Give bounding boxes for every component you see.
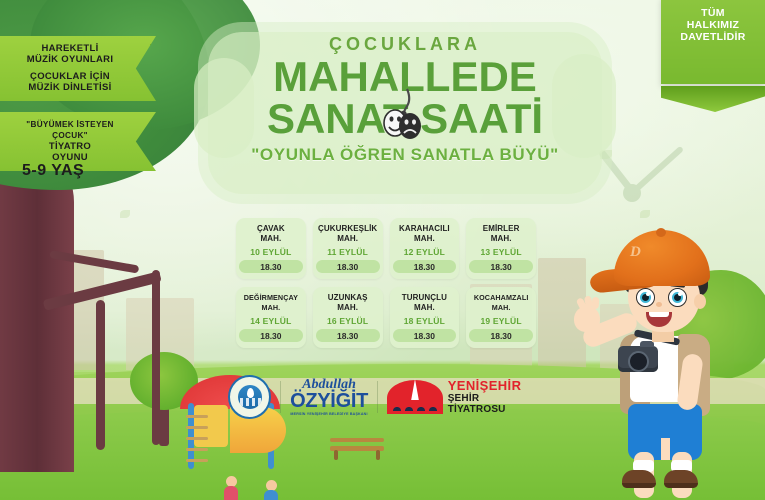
event-suffix: MAH. bbox=[337, 303, 358, 312]
ribbon2-line-1: "BÜYÜMEK İSTEYEN ÇOCUK" bbox=[14, 119, 126, 141]
event-time: 18.30 bbox=[316, 260, 380, 273]
event-time: 18.30 bbox=[393, 260, 457, 273]
logo-divider bbox=[377, 381, 378, 413]
invitation-line-3: DAVETLİDİR bbox=[661, 31, 765, 43]
event-neighborhood: TURUNÇLU bbox=[402, 293, 447, 302]
program-ribbon-music: HAREKETLİ MÜZİK OYUNLARI ÇOCUKLAR İÇİN M… bbox=[0, 36, 156, 101]
ribbon1-line-4: MÜZİK DİNLETİSİ bbox=[14, 82, 126, 93]
event-time: 18.30 bbox=[239, 260, 303, 273]
event-date: 11 EYLÜL bbox=[316, 247, 380, 257]
invitation-ribbon: TÜM HALKIMIZ DAVETLİDİR bbox=[661, 0, 765, 84]
boy-shoe bbox=[622, 470, 656, 488]
event-time: 18.30 bbox=[316, 329, 380, 342]
event-card[interactable]: EMİRLERMAH. 13 EYLÜL 18.30 bbox=[466, 218, 536, 279]
event-date: 13 EYLÜL bbox=[469, 247, 533, 257]
event-time: 18.30 bbox=[393, 329, 457, 342]
event-neighborhood: KARAHACILI bbox=[399, 224, 450, 233]
event-card[interactable]: TURUNÇLUMAH. 18 EYLÜL 18.30 bbox=[390, 287, 460, 348]
event-time: 18.30 bbox=[239, 329, 303, 342]
boy-nose bbox=[656, 302, 662, 307]
boy-character: D bbox=[572, 228, 758, 496]
headline-line-2: SANAT SAATİ bbox=[267, 95, 543, 142]
cap-button bbox=[656, 228, 666, 237]
ribbon1-line-2: MÜZİK OYUNLARI bbox=[14, 54, 126, 65]
theatre-name: YENİŞEHİR bbox=[448, 379, 538, 393]
event-date: 19 EYLÜL bbox=[469, 316, 533, 326]
event-card[interactable]: DEĞİRMENÇAYMAH. 14 EYLÜL 18.30 bbox=[236, 287, 306, 348]
boy-finger bbox=[592, 297, 600, 309]
cap-logo: D bbox=[630, 244, 650, 262]
event-time: 18.30 bbox=[469, 260, 533, 273]
event-suffix: MAH. bbox=[492, 303, 511, 312]
event-suffix: MAH. bbox=[491, 234, 512, 243]
event-schedule: ÇAVAKMAH. 10 EYLÜL 18.30 ÇUKURKEŞLİKMAH.… bbox=[236, 218, 536, 356]
event-neighborhood: DEĞİRMENÇAY bbox=[244, 293, 298, 302]
mayor-title: MERSİN YENİŞEHİR BELEDİYE BAŞKANI bbox=[290, 411, 368, 417]
event-card[interactable]: UZUNKAŞMAH. 16 EYLÜL 18.30 bbox=[313, 287, 383, 348]
event-date: 14 EYLÜL bbox=[239, 316, 303, 326]
event-neighborhood: ÇAVAK bbox=[257, 224, 285, 233]
headline-block: ÇOCUKLARA MAHALLEDE SANAT SAATİ "OYUNLA … bbox=[200, 34, 610, 165]
city-theatre-logo: YENİŞEHİR ŞEHİR TİYATROSU bbox=[387, 379, 538, 415]
event-time: 18.30 bbox=[469, 329, 533, 342]
mayor-last-name: ÖZYİĞİT bbox=[290, 391, 368, 411]
boy-waving-hand bbox=[574, 306, 600, 332]
event-suffix: MAH. bbox=[337, 234, 358, 243]
boy-eye bbox=[636, 288, 655, 307]
event-neighborhood: UZUNKAŞ bbox=[328, 293, 368, 302]
event-neighborhood: EMİRLER bbox=[483, 224, 520, 233]
event-neighborhood: ÇUKURKEŞLİK bbox=[318, 224, 377, 233]
logo-bar: Abdullah ÖZYİĞİT MERSİN YENİŞEHİR BELEDİ… bbox=[228, 374, 538, 420]
park-bench bbox=[330, 438, 384, 460]
foreground-tree-trunk bbox=[0, 142, 74, 472]
leaf-speck bbox=[640, 210, 650, 218]
ribbon1-line-3: ÇOCUKLAR İÇİN bbox=[14, 71, 126, 82]
logo-divider bbox=[280, 381, 281, 413]
event-card[interactable]: ÇUKURKEŞLİKMAH. 11 EYLÜL 18.30 bbox=[313, 218, 383, 279]
boy-ear bbox=[694, 294, 706, 309]
age-range-label: 5-9 YAŞ bbox=[22, 162, 84, 180]
theatre-tent-icon bbox=[387, 380, 442, 414]
headline-line-1: MAHALLEDE bbox=[200, 57, 610, 97]
mayor-logo: Abdullah ÖZYİĞİT MERSİN YENİŞEHİR BELEDİ… bbox=[290, 378, 368, 417]
cap-crown bbox=[614, 230, 710, 286]
event-suffix: MAH. bbox=[261, 303, 280, 312]
boy-eye bbox=[668, 288, 687, 307]
tree-trunk bbox=[96, 300, 105, 450]
event-date: 18 EYLÜL bbox=[393, 316, 457, 326]
event-suffix: MAH. bbox=[414, 303, 435, 312]
event-neighborhood: KOCAHAMZALI bbox=[474, 293, 529, 302]
poster-canvas: TÜM HALKIMIZ DAVETLİDİR HAREKETLİ MÜZİK … bbox=[0, 0, 765, 500]
event-date: 16 EYLÜL bbox=[316, 316, 380, 326]
tree-trunk bbox=[152, 270, 160, 445]
event-suffix: MAH. bbox=[414, 234, 435, 243]
event-card[interactable]: ÇAVAKMAH. 10 EYLÜL 18.30 bbox=[236, 218, 306, 279]
leaf-speck bbox=[120, 210, 130, 218]
municipality-seal-icon bbox=[228, 375, 271, 419]
headline-kicker: ÇOCUKLARA bbox=[200, 34, 610, 55]
event-card[interactable]: KARAHACILIMAH. 12 EYLÜL 18.30 bbox=[390, 218, 460, 279]
theatre-subtitle: ŞEHİR TİYATROSU bbox=[448, 393, 538, 415]
event-date: 10 EYLÜL bbox=[239, 247, 303, 257]
mayor-first-name: Abdullah bbox=[290, 378, 368, 391]
ribbon2-line-2: TİYATRO bbox=[14, 141, 126, 152]
invitation-line-1: TÜM bbox=[661, 7, 765, 19]
event-suffix: MAH. bbox=[260, 234, 281, 243]
ribbon1-line-1: HAREKETLİ bbox=[14, 43, 126, 54]
camera-icon bbox=[618, 346, 658, 372]
event-row-1: ÇAVAKMAH. 10 EYLÜL 18.30 ÇUKURKEŞLİKMAH.… bbox=[236, 218, 536, 279]
boy-shoe bbox=[664, 470, 698, 488]
event-card[interactable]: KOCAHAMZALIMAH. 19 EYLÜL 18.30 bbox=[466, 287, 536, 348]
invitation-line-2: HALKIMIZ bbox=[661, 19, 765, 31]
event-date: 12 EYLÜL bbox=[393, 247, 457, 257]
event-row-2: DEĞİRMENÇAYMAH. 14 EYLÜL 18.30 UZUNKAŞMA… bbox=[236, 287, 536, 348]
playground-ladder bbox=[186, 415, 208, 463]
headline-line-2-wrap: SANAT SAATİ bbox=[200, 99, 610, 139]
headline-tagline: "OYUNLA ÖĞREN SANATLA BÜYÜ" bbox=[200, 145, 610, 165]
